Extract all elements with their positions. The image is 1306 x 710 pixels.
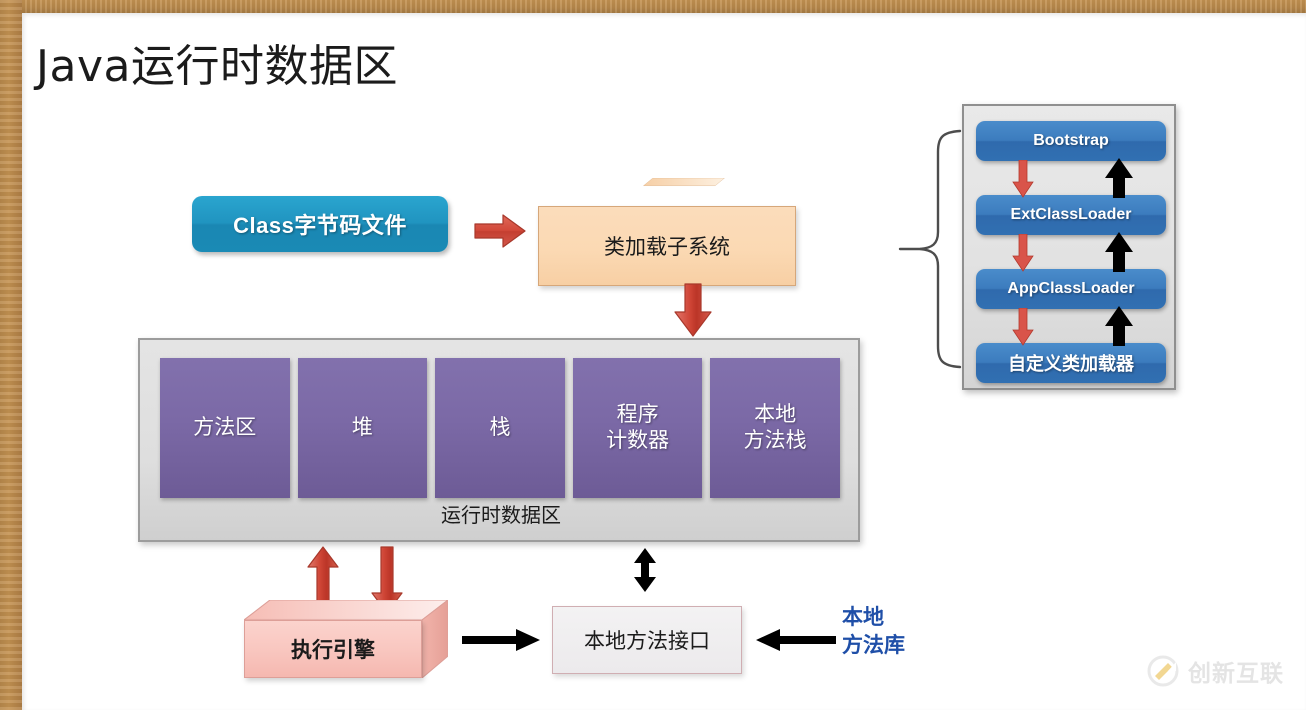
watermark-logo-icon — [1146, 654, 1180, 688]
black-double-arrow-icon — [632, 548, 658, 592]
class-loader-item-appclassloader: AppClassLoader — [976, 269, 1166, 309]
watermark-text: 创新互联 — [1188, 654, 1284, 688]
native-method-interface-box: 本地方法接口 — [552, 606, 742, 674]
runtime-cell-program-counter: 程序 计数器 — [573, 358, 703, 498]
curly-brace-icon — [898, 128, 962, 370]
runtime-cell-stack: 栈 — [435, 358, 565, 498]
black-up-arrow-icon-return-3 — [1104, 306, 1134, 346]
page-title: Java运行时数据区 — [36, 30, 398, 94]
native-method-library-label: 本地 方法库 — [842, 604, 962, 661]
wooden-frame-top — [0, 0, 1306, 13]
black-right-arrow-icon — [462, 628, 540, 652]
class-loader-item-bootstrap: Bootstrap — [976, 121, 1166, 161]
runtime-data-area-caption: 运行时数据区 — [140, 499, 862, 528]
class-loader-item-custom: 自定义类加载器 — [976, 343, 1166, 383]
class-file-box: Class字节码文件 — [192, 196, 448, 252]
black-up-arrow-icon-return-2 — [1104, 232, 1134, 272]
runtime-data-area-panel: 方法区 堆 栈 程序 计数器 本地 方法栈 运行时数据区 — [138, 338, 860, 542]
watermark: 创新互联 — [1146, 654, 1284, 688]
black-left-arrow-icon — [756, 628, 836, 652]
runtime-cell-method-area: 方法区 — [160, 358, 290, 498]
execution-engine-box: 执行引擎 — [244, 600, 448, 678]
runtime-cell-heap: 堆 — [298, 358, 428, 498]
class-loader-item-extclassloader: ExtClassLoader — [976, 195, 1166, 235]
runtime-data-area-cells: 方法区 堆 栈 程序 计数器 本地 方法栈 — [160, 358, 840, 498]
black-up-arrow-icon-return-1 — [1104, 158, 1134, 198]
class-loader-subsystem-box: 类加载子系统 — [538, 178, 830, 286]
red-right-arrow-icon — [473, 212, 527, 250]
class-loader-hierarchy-panel: Bootstrap ExtClassLoader AppClassLoader … — [962, 104, 1176, 390]
red-down-arrow-icon-to-runtime — [672, 282, 714, 338]
red-down-arrow-icon-delegate-1 — [1012, 160, 1034, 198]
runtime-cell-native-method-stack: 本地 方法栈 — [710, 358, 840, 498]
class-loader-subsystem-label: 类加载子系统 — [538, 206, 796, 286]
red-down-arrow-icon-delegate-3 — [1012, 308, 1034, 346]
slide-canvas: Java运行时数据区 Class字节码文件 — [0, 0, 1306, 710]
execution-engine-label: 执行引擎 — [244, 620, 422, 678]
red-down-arrow-icon-delegate-2 — [1012, 234, 1034, 272]
wooden-frame-left — [0, 0, 22, 710]
